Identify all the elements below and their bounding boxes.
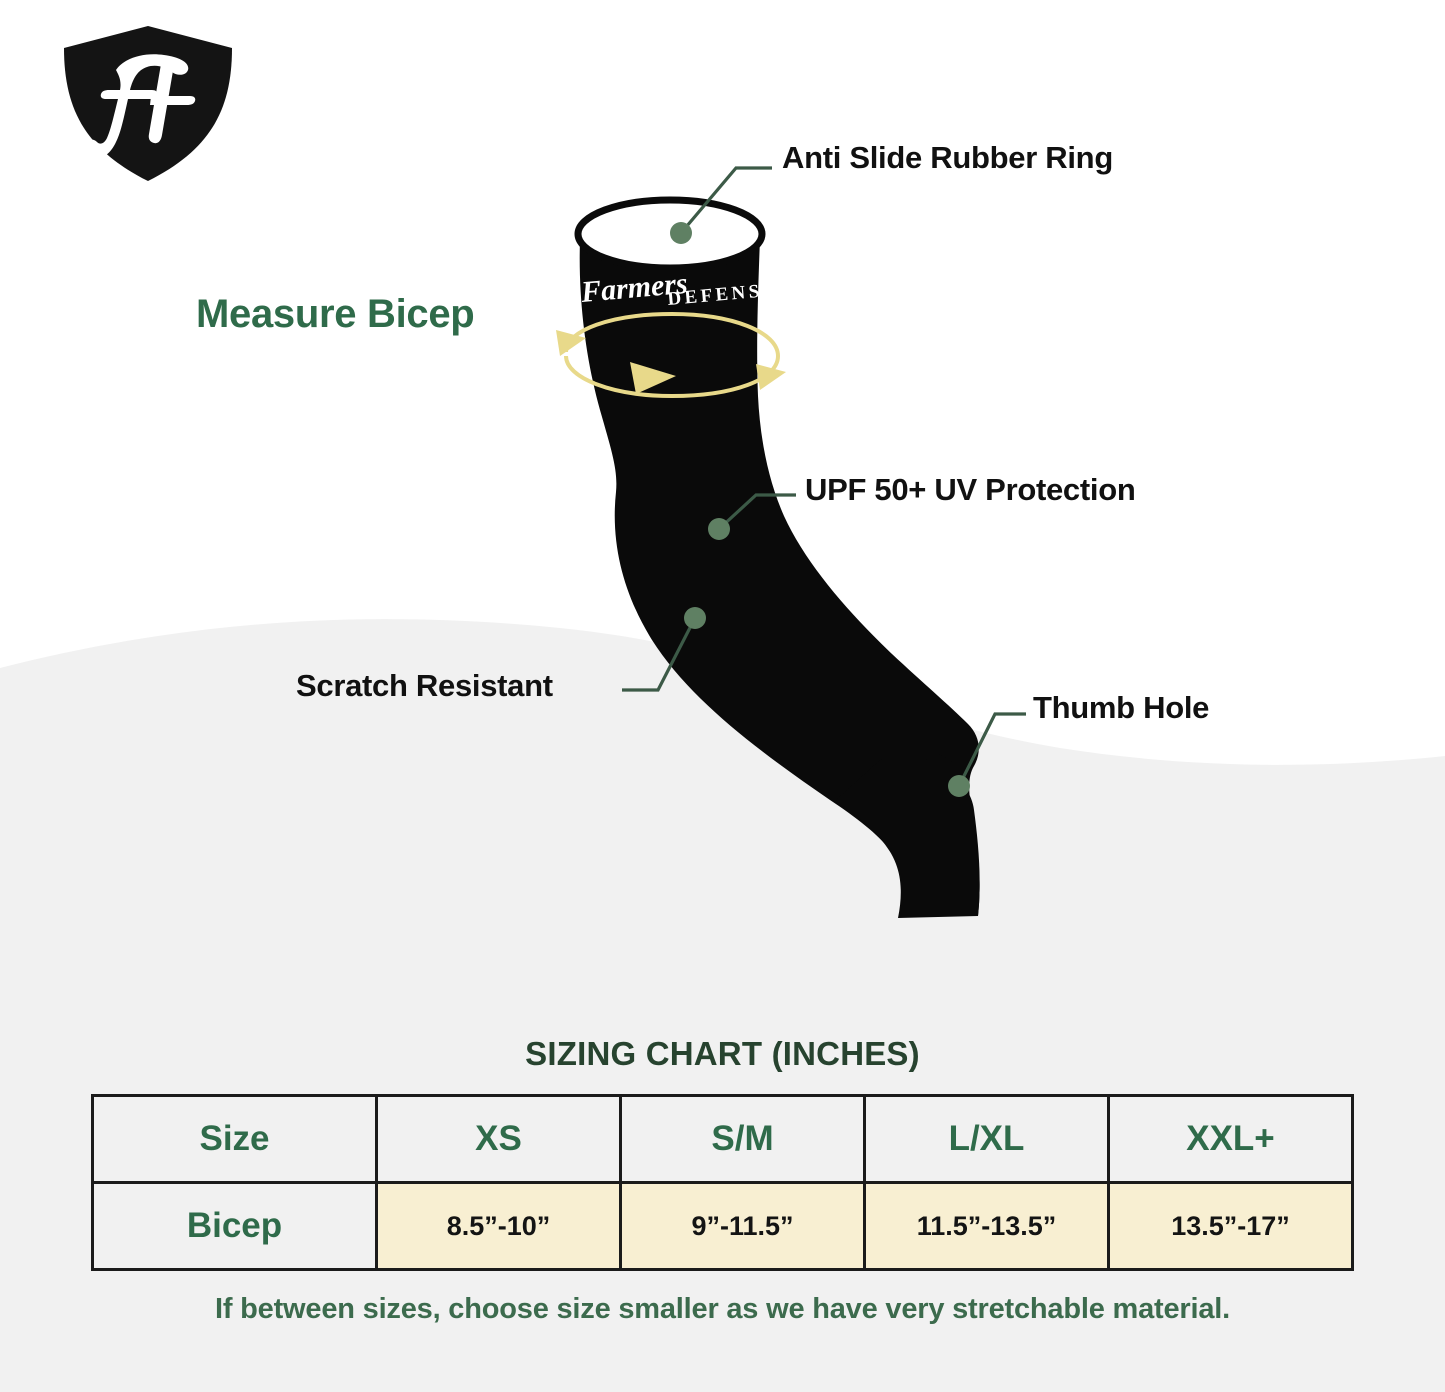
sizing-chart-table: Size XS S/M L/XL XXL+ Bicep 8.5”-10” 9”-…	[91, 1094, 1354, 1271]
table-header-cell-lxl: L/XL	[865, 1096, 1109, 1183]
table-header-cell-xs: XS	[377, 1096, 621, 1183]
table-cell-bicep-lxl: 11.5”-13.5”	[865, 1183, 1109, 1270]
table-header-row: Size XS S/M L/XL XXL+	[93, 1096, 1353, 1183]
brand-shield-logo	[48, 14, 248, 194]
table-cell-bicep-xs: 8.5”-10”	[377, 1183, 621, 1270]
callout-label-anti-slide-rubber-ring: Anti Slide Rubber Ring	[782, 140, 1113, 176]
callout-label-upf-50-uv-protection: UPF 50+ UV Protection	[805, 472, 1135, 508]
sizing-chart-title: SIZING CHART (INCHES)	[0, 1035, 1445, 1073]
table-cell-bicep-xxl: 13.5”-17”	[1109, 1183, 1353, 1270]
table-header-cell-size: Size	[93, 1096, 377, 1183]
callout-label-thumb-hole: Thumb Hole	[1033, 690, 1209, 726]
sizing-chart-note: If between sizes, choose size smaller as…	[0, 1293, 1445, 1326]
callout-label-measure-bicep: Measure Bicep	[196, 292, 474, 337]
table-row-label-bicep: Bicep	[93, 1183, 377, 1270]
callout-label-scratch-resistant: Scratch Resistant	[296, 668, 553, 704]
sizing-chart-section: SIZING CHART (INCHES) Size XS S/M L/XL X…	[0, 1035, 1445, 1326]
infographic-page: Farmers DEFENSE	[0, 0, 1445, 1392]
table-header-cell-xxl: XXL+	[1109, 1096, 1353, 1183]
table-row: Bicep 8.5”-10” 9”-11.5” 11.5”-13.5” 13.5…	[93, 1183, 1353, 1270]
table-cell-bicep-sm: 9”-11.5”	[621, 1183, 865, 1270]
table-header-cell-sm: S/M	[621, 1096, 865, 1183]
